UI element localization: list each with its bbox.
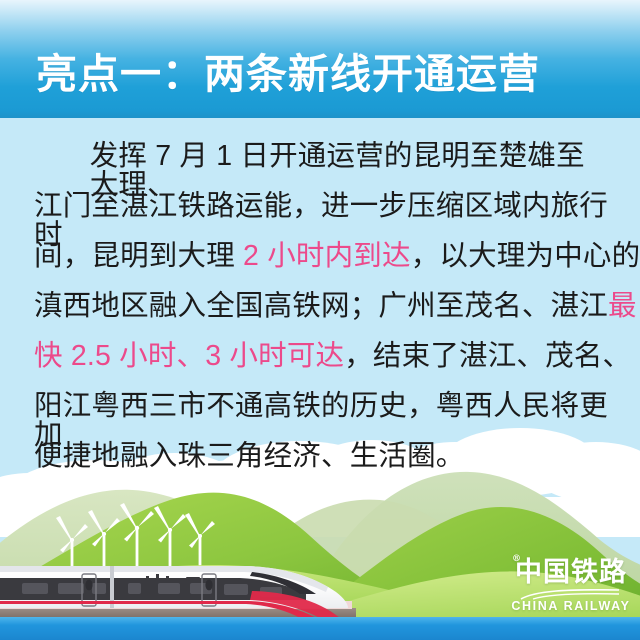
near-hills bbox=[0, 565, 640, 640]
high-speed-train bbox=[0, 566, 348, 624]
text-run-highlight: 2 小时内到达 bbox=[243, 240, 411, 272]
text-run-highlight: 快 2.5 小时、3 小时可达 bbox=[34, 340, 344, 372]
wind-turbine-icon bbox=[154, 506, 186, 566]
wind-turbine-group bbox=[56, 503, 215, 576]
article-body: 发挥 7 月 1 日开通运营的昆明至楚雄至大理、 江门至湛江铁路运能，进一步压缩… bbox=[0, 118, 640, 463]
train-windows bbox=[22, 583, 282, 597]
text-line-7: 便捷地融入珠三角经济、生活圈。 bbox=[34, 442, 612, 471]
china-railway-logo: ®中国铁路 CHINA RAILWAY bbox=[510, 559, 632, 613]
text-run: ，结束了湛江、茂名、 bbox=[344, 340, 631, 372]
far-hills bbox=[0, 472, 640, 620]
river-strip bbox=[0, 617, 640, 640]
text-line-5: 快 2.5 小时、3 小时可达，结束了湛江、茂名、 bbox=[34, 342, 612, 371]
logo-swoosh-icon bbox=[519, 587, 623, 598]
text-run: 滇西地区融入全国高铁网；广州至茂名、湛江 bbox=[34, 290, 608, 322]
wind-turbine-icon bbox=[56, 516, 88, 576]
logo-chinese-label: 中国铁路 bbox=[515, 557, 627, 588]
text-run: 间，昆明到大理 bbox=[34, 240, 243, 272]
text-line-4: 滇西地区融入全国高铁网；广州至茂名、湛江最 bbox=[34, 292, 612, 321]
text-line-3: 间，昆明到大理 2 小时内到达，以大理为中心的 bbox=[34, 242, 612, 271]
wind-turbine-icon bbox=[185, 513, 215, 570]
registered-mark-icon: ® bbox=[512, 555, 522, 564]
train-doors bbox=[82, 574, 216, 606]
infographic-poster: 亮点一：两条新线开通运营 发挥 7 月 1 日开通运营的昆明至楚雄至大理、 江门… bbox=[0, 0, 640, 640]
text-run: 便捷地融入珠三角经济、生活圈。 bbox=[34, 440, 465, 472]
mid-hills bbox=[0, 493, 640, 640]
logo-english-label: CHINA RAILWAY bbox=[510, 600, 632, 613]
wind-turbine-icon bbox=[120, 503, 154, 566]
page-title: 亮点一：两条新线开通运营 bbox=[36, 52, 540, 98]
text-run-highlight: 最 bbox=[608, 290, 637, 322]
rail-bed bbox=[0, 601, 356, 618]
text-run: ，以大理为中心的 bbox=[411, 240, 640, 272]
train-roof-equipment bbox=[146, 574, 200, 581]
logo-chinese-text: ®中国铁路 bbox=[510, 559, 632, 586]
wind-turbine-icon bbox=[88, 510, 120, 570]
